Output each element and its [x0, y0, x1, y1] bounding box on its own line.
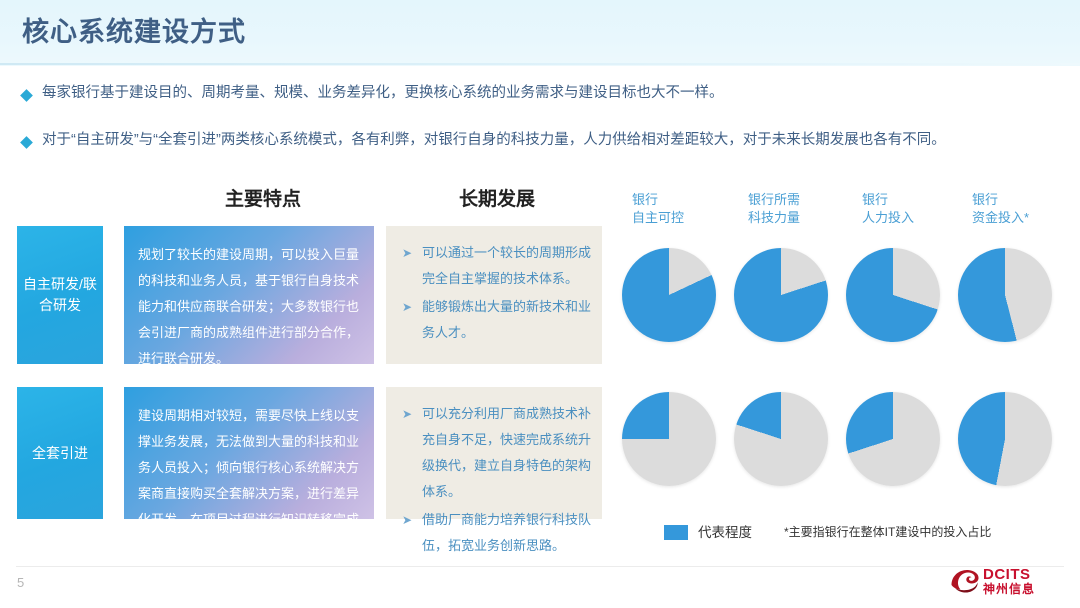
- longterm-list-item: ➤借助厂商能力培养银行科技队伍，拓宽业务创新思路。: [396, 507, 592, 559]
- pie-heading-line: 人力投入: [862, 209, 914, 227]
- pie-heading-line: 自主可控: [632, 209, 684, 227]
- row-longterm-self-developed: ➤可以通过一个较长的周期形成完全自主掌握的技术体系。➤能够锻炼出大量的新技术和业…: [386, 226, 602, 364]
- longterm-list-item: ➤能够锻炼出大量的新技术和业务人才。: [396, 294, 592, 346]
- dcits-swirl-icon: [950, 568, 980, 596]
- arrow-bullet-icon: ➤: [402, 240, 412, 266]
- longterm-list-item: ➤可以充分利用厂商成熟技术补充自身不足，快速完成系统升级换代，建立自身特色的架构…: [396, 401, 592, 505]
- logo-text-cn: 神州信息: [983, 582, 1035, 597]
- pie-chart-4: [622, 392, 716, 486]
- column-heading-features: 主要特点: [168, 186, 358, 214]
- list-item: 每家银行基于建设目的、周期考量、规模、业务差异化，更换核心系统的业务需求与建设目…: [0, 78, 1080, 125]
- arrow-bullet-icon: ➤: [402, 401, 412, 427]
- pie-chart-2: [846, 248, 940, 342]
- page-title: 核心系统建设方式: [22, 12, 246, 52]
- row-description-self-developed: 规划了较长的建设周期，可以投入巨量的科技和业务人员，基于银行自身技术能力和供应商…: [124, 226, 374, 364]
- pie-heading-line: 资金投入*: [972, 209, 1029, 227]
- pie-heading-line: 银行所需: [748, 191, 800, 209]
- pie-heading-line: 银行: [972, 191, 1029, 209]
- logo-text-en: DCITS: [983, 566, 1031, 583]
- intro-bullet-text: 对于“自主研发”与“全套引进”两类核心系统模式，各有利弊，对银行自身的科技力量，…: [42, 127, 946, 153]
- pie-chart-1: [734, 248, 828, 342]
- longterm-item-text: 可以充分利用厂商成熟技术补充自身不足，快速完成系统升级换代，建立自身特色的架构体…: [422, 406, 591, 499]
- pie-chart-3: [958, 248, 1052, 342]
- column-heading-longterm: 长期发展: [392, 186, 602, 214]
- longterm-item-text: 可以通过一个较长的周期形成完全自主掌握的技术体系。: [422, 245, 591, 286]
- pie-chart-0: [622, 248, 716, 342]
- pie-heading-line: 银行: [632, 191, 684, 209]
- diamond-bullet-icon: [20, 136, 33, 149]
- pie-heading-line: 科技力量: [748, 209, 800, 227]
- list-item: 对于“自主研发”与“全套引进”两类核心系统模式，各有利弊，对银行自身的科技力量，…: [0, 125, 1080, 172]
- intro-bullet-list: 每家银行基于建设目的、周期考量、规模、业务差异化，更换核心系统的业务需求与建设目…: [0, 78, 1080, 172]
- pie-heading-line: 银行: [862, 191, 914, 209]
- intro-bullet-text: 每家银行基于建设目的、周期考量、规模、业务差异化，更换核心系统的业务需求与建设目…: [42, 80, 724, 106]
- pie-chart-6: [846, 392, 940, 486]
- pie-chart-7: [958, 392, 1052, 486]
- legend-footnote: *主要指银行在整体IT建设中的投入占比: [784, 522, 991, 543]
- slide: 核心系统建设方式 每家银行基于建设目的、周期考量、规模、业务差异化，更换核心系统…: [0, 0, 1080, 608]
- legend-swatch-icon: [664, 525, 688, 540]
- diamond-bullet-icon: [20, 89, 33, 102]
- arrow-bullet-icon: ➤: [402, 294, 412, 320]
- pie-chart-5: [734, 392, 828, 486]
- company-logo: DCITS 神州信息: [950, 566, 1066, 600]
- longterm-item-text: 借助厂商能力培养银行科技队伍，拓宽业务创新思路。: [422, 512, 591, 553]
- pie-heading-2: 银行人力投入: [862, 191, 914, 227]
- arrow-bullet-icon: ➤: [402, 507, 412, 533]
- pie-heading-0: 银行自主可控: [632, 191, 684, 227]
- header-divider: [0, 63, 1080, 65]
- page-number: 5: [17, 575, 24, 590]
- row-tag-self-developed: 自主研发/联合研发: [17, 226, 103, 364]
- row-longterm-full-import: ➤可以充分利用厂商成熟技术补充自身不足，快速完成系统升级换代，建立自身特色的架构…: [386, 387, 602, 519]
- pie-heading-1: 银行所需科技力量: [748, 191, 800, 227]
- longterm-item-text: 能够锻炼出大量的新技术和业务人才。: [422, 299, 591, 340]
- legend-label: 代表程度: [698, 522, 752, 543]
- row-tag-full-import: 全套引进: [17, 387, 103, 519]
- longterm-list-item: ➤可以通过一个较长的周期形成完全自主掌握的技术体系。: [396, 240, 592, 292]
- footer-divider: [16, 566, 1064, 567]
- pie-heading-3: 银行资金投入*: [972, 191, 1029, 227]
- row-description-full-import: 建设周期相对较短，需要尽快上线以支撑业务发展，无法做到大量的科技和业务人员投入；…: [124, 387, 374, 519]
